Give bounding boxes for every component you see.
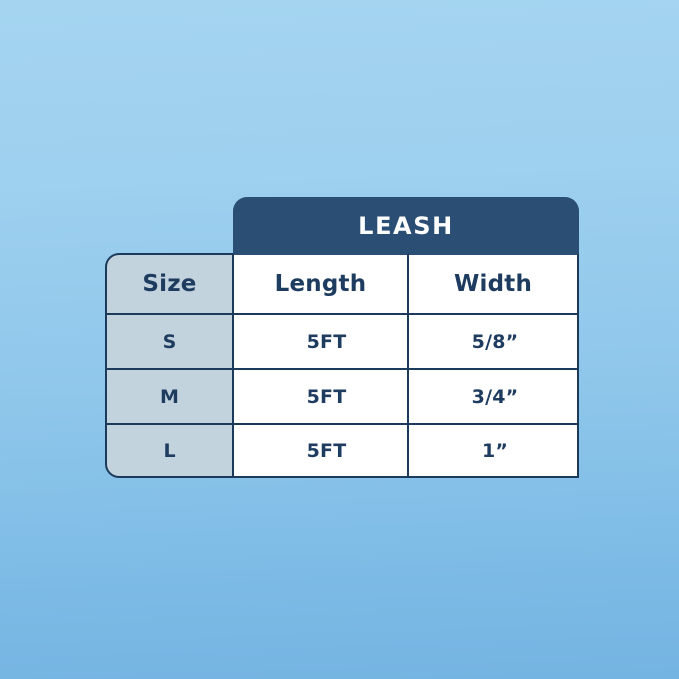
cell-length: 5FT bbox=[234, 313, 409, 368]
column-header-length: Length bbox=[234, 253, 409, 313]
cell-width-value: 3/4” bbox=[472, 386, 519, 408]
cell-length: 5FT bbox=[234, 368, 409, 423]
size-chart-grid: Size Length Width S 5FT 5/8” bbox=[105, 253, 579, 478]
cell-width: 5/8” bbox=[409, 313, 579, 368]
cell-length-value: 5FT bbox=[307, 331, 347, 353]
cell-width: 1” bbox=[409, 423, 579, 478]
cell-size-value: M bbox=[160, 386, 179, 408]
table-row: M 5FT 3/4” bbox=[105, 368, 579, 423]
cell-length: 5FT bbox=[234, 423, 409, 478]
page-background: LEASH Size Length Width S 5FT bbox=[0, 0, 679, 679]
column-header-size: Size bbox=[105, 253, 234, 313]
cell-size-value: S bbox=[163, 331, 177, 353]
table-header-row: Size Length Width bbox=[105, 253, 579, 313]
cell-size: L bbox=[105, 423, 234, 478]
cell-size-value: L bbox=[163, 440, 175, 462]
leash-size-chart: LEASH Size Length Width S 5FT bbox=[105, 197, 579, 478]
column-header-size-label: Size bbox=[142, 271, 196, 297]
chart-title-banner: LEASH bbox=[233, 197, 579, 254]
cell-width-value: 5/8” bbox=[472, 331, 519, 353]
table-row: L 5FT 1” bbox=[105, 423, 579, 478]
cell-size: M bbox=[105, 368, 234, 423]
column-header-width-label: Width bbox=[454, 271, 532, 297]
column-header-length-label: Length bbox=[275, 271, 367, 297]
cell-width: 3/4” bbox=[409, 368, 579, 423]
table-row: S 5FT 5/8” bbox=[105, 313, 579, 368]
cell-length-value: 5FT bbox=[307, 440, 347, 462]
cell-length-value: 5FT bbox=[307, 386, 347, 408]
cell-width-value: 1” bbox=[482, 440, 508, 462]
chart-title: LEASH bbox=[233, 212, 579, 240]
column-header-width: Width bbox=[409, 253, 579, 313]
cell-size: S bbox=[105, 313, 234, 368]
